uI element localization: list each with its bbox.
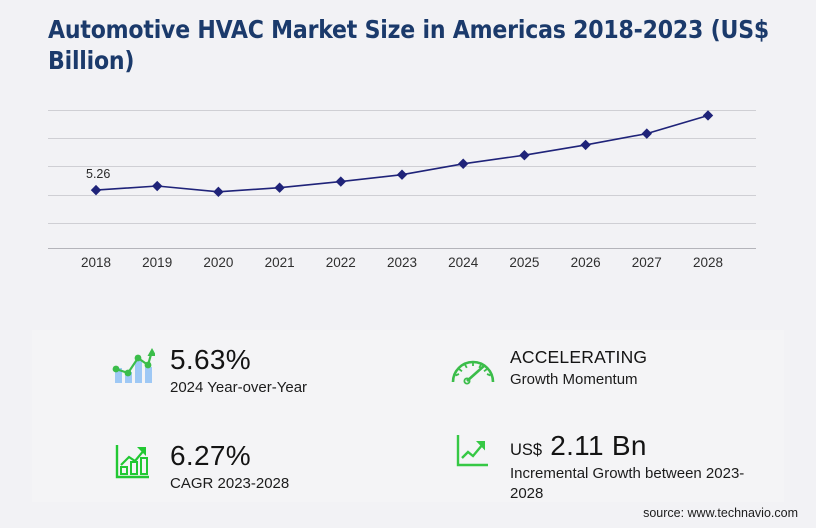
x-tick-label: 2020 — [203, 255, 233, 270]
data-point-marker — [580, 140, 590, 150]
x-tick-label: 2028 — [693, 255, 723, 270]
data-point-marker — [397, 170, 407, 180]
metric-unit: US$ — [510, 441, 542, 459]
metric-amount: 2.11 Bn — [550, 430, 647, 461]
bar-line-growth-icon — [110, 344, 156, 386]
data-point-marker — [91, 185, 101, 195]
bar-chart-arrow-icon — [110, 440, 156, 482]
data-point-marker — [152, 181, 162, 191]
x-tick-label: 2019 — [142, 255, 172, 270]
metric-incremental-growth: US$ 2.11 Bn Incremental Growth between 2… — [450, 430, 750, 504]
x-tick-label: 2021 — [265, 255, 295, 270]
metric-yoy: 5.63% 2024 Year-over-Year — [110, 344, 307, 398]
series-markers — [91, 110, 713, 197]
x-tick-label: 2023 — [387, 255, 417, 270]
data-point-marker — [703, 110, 713, 120]
infographic-root: Automotive HVAC Market Size in Americas … — [0, 0, 816, 528]
data-label: 5.26 — [86, 167, 110, 181]
data-point-marker — [336, 176, 346, 186]
metric-label: 2024 Year-over-Year — [170, 378, 307, 398]
x-tick-label: 2025 — [509, 255, 539, 270]
page-title: Automotive HVAC Market Size in Americas … — [48, 14, 778, 77]
metric-value: ACCELERATING — [510, 348, 647, 368]
metric-label: Incremental Growth between 2023-2028 — [510, 464, 750, 504]
x-tick-label: 2027 — [632, 255, 662, 270]
metric-value: US$ 2.11 Bn — [510, 430, 750, 462]
speedometer-icon — [450, 348, 496, 390]
source-note: source: www.technavio.com — [643, 506, 798, 520]
metric-value: 5.63% — [170, 344, 307, 376]
metric-label: CAGR 2023-2028 — [170, 474, 289, 494]
line-chart-arrow-icon — [450, 430, 496, 472]
metric-cagr: 6.27% CAGR 2023-2028 — [110, 440, 289, 494]
data-point-marker — [274, 183, 284, 193]
series-line — [96, 116, 708, 192]
chart-plot-svg — [48, 108, 756, 250]
data-point-marker — [213, 187, 223, 197]
data-point-marker — [642, 128, 652, 138]
x-tick-label: 2022 — [326, 255, 356, 270]
metric-label: Growth Momentum — [510, 370, 647, 390]
x-tick-label: 2024 — [448, 255, 478, 270]
x-tick-label: 2018 — [81, 255, 111, 270]
data-point-marker — [519, 150, 529, 160]
x-axis-ticks: 2018201920202021202220232024202520262027… — [48, 255, 756, 275]
metric-value: 6.27% — [170, 440, 289, 472]
metric-growth-momentum: ACCELERATING Growth Momentum — [450, 348, 647, 390]
x-tick-label: 2026 — [571, 255, 601, 270]
line-chart: 5.26 — [48, 108, 756, 250]
data-point-marker — [458, 159, 468, 169]
